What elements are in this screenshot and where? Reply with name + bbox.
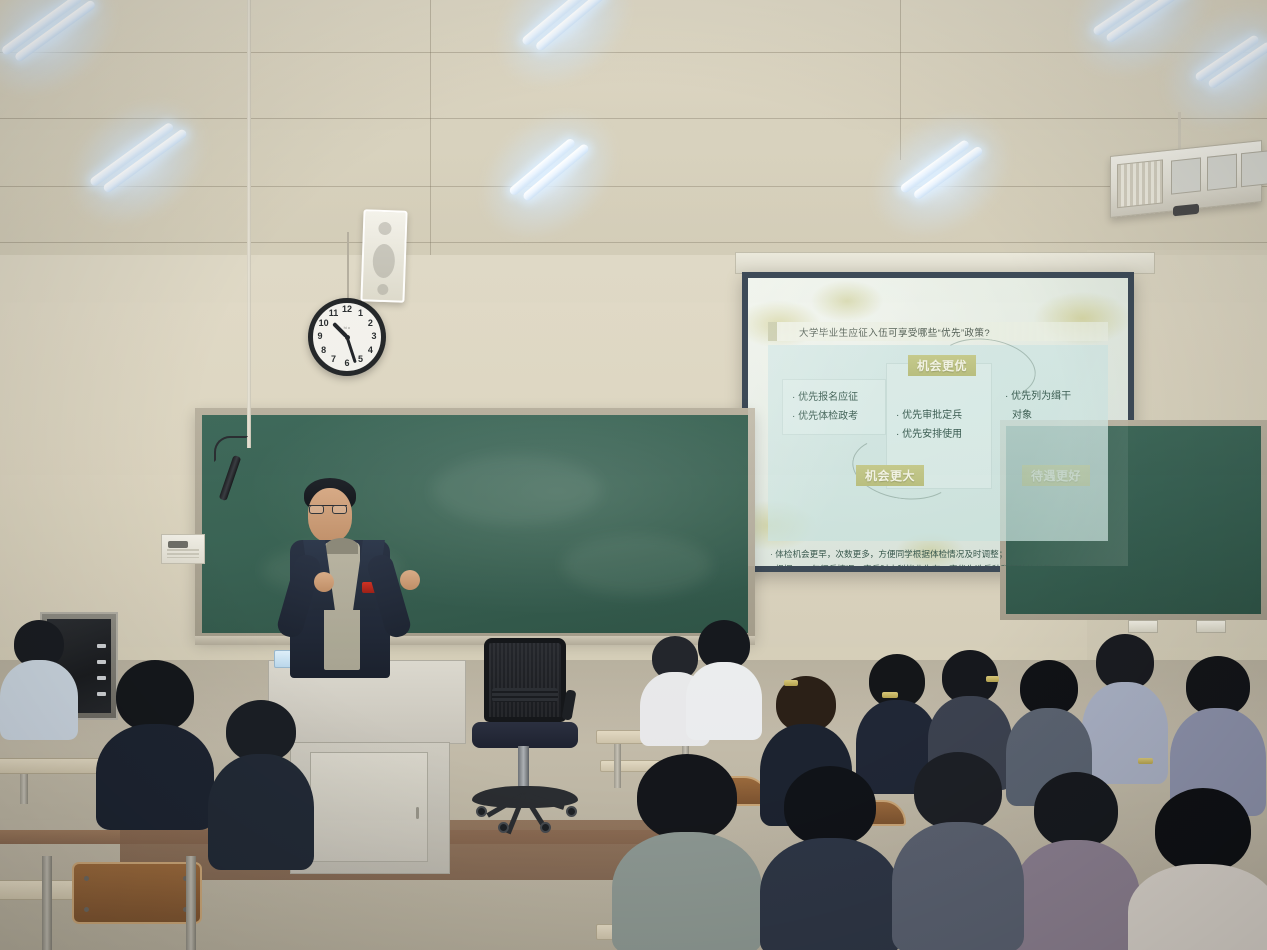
hair-clip (784, 680, 798, 686)
clock-numeral: 8 (317, 345, 331, 355)
clock-center-pin (345, 335, 350, 340)
lecturer-head (308, 488, 352, 542)
student-body (208, 754, 314, 870)
slide-title-bar: 大学毕业生应征入伍可享受哪些“优先”政策? (768, 322, 1108, 341)
student-head (784, 766, 876, 846)
student (1128, 788, 1267, 950)
clock-brand: hio (344, 325, 351, 330)
student (0, 620, 78, 740)
slide-title: 大学毕业生应征入伍可享受哪些“优先”政策? (799, 325, 990, 339)
projection-screen: 大学毕业生应征入伍可享受哪些“优先”政策? 优先报名应征 优先体检政考 优先审批… (742, 272, 1134, 572)
wall-clock: hio 121234567891011 (308, 298, 386, 376)
student-head (1034, 772, 1118, 848)
office-chair-seat (472, 722, 578, 748)
student (1012, 772, 1140, 950)
chalk-smudge (562, 535, 712, 595)
slide-bullet: 优先报名应征 (792, 388, 876, 407)
hair-clip (986, 676, 999, 682)
slide-bullet: 优先安排使用 (896, 425, 982, 444)
clock-numeral: 4 (363, 345, 377, 355)
wall-control-plate (161, 534, 205, 564)
screen-surface: 大学毕业生应征入伍可享受哪些“优先”政策? 优先报名应征 优先体检政考 优先审批… (748, 278, 1128, 566)
lecturer (300, 478, 450, 678)
office-chair-back (484, 638, 566, 722)
chair-bolt (84, 876, 89, 881)
slide-footer-bullets: 体检机会更早，次数更多，方便同学根据体检情况及时调整； 根据2021年征兵情况，… (770, 547, 1106, 566)
student-head (1186, 656, 1250, 716)
fluorescent-light (508, 137, 590, 213)
lecturer-glasses (309, 505, 347, 514)
student-head (116, 660, 194, 732)
clock-numeral: 12 (340, 304, 354, 314)
slide-tag-center: 机会更优 (908, 355, 976, 376)
slide-bullet-cont: 对象 (1005, 406, 1097, 425)
fluorescent-light (899, 139, 983, 211)
clock-numeral: 9 (313, 331, 327, 341)
student-head (637, 754, 737, 840)
student (760, 766, 900, 950)
podium-handle[interactable] (416, 807, 419, 819)
fluorescent-light (521, 0, 608, 63)
student (96, 660, 214, 830)
wall-plate-vent (167, 549, 199, 558)
projector-panel (1241, 150, 1267, 187)
office-chair-stem (518, 746, 529, 790)
slide-tag-right: 待遇更好 (1022, 465, 1090, 486)
office-chair-lumbar (492, 688, 558, 702)
student (612, 754, 762, 950)
screen-housing (735, 252, 1155, 274)
speaker-tweeter (378, 222, 391, 235)
slide-footer-bullet: 根据2021年征兵情况，定兵时本科毕业生有一定优先选兵种和部队的优势； (770, 562, 1106, 566)
lecturer-collar (326, 538, 358, 554)
slide-tag-left: 机会更大 (856, 465, 924, 486)
chair-caster (476, 806, 487, 817)
student-body (686, 662, 762, 740)
student (208, 700, 314, 870)
chalk-clip (1128, 620, 1158, 633)
blackboard (195, 408, 755, 640)
clock-numeral: 11 (327, 308, 341, 318)
fluorescent-light (0, 0, 95, 73)
slide-bullet: 优先审批定兵 (896, 406, 982, 425)
classroom-photo: 大学毕业生应征入伍可享受哪些“优先”政策? 优先报名应征 优先体检政考 优先审批… (0, 0, 1267, 950)
student-body (0, 660, 78, 740)
slide-body: 优先报名应征 优先体检政考 优先审批定兵 优先安排使用 优先列为缉干 (768, 345, 1108, 541)
wooden-chair-back (72, 862, 202, 924)
student-body (1128, 864, 1267, 950)
chair-bolt (84, 907, 89, 912)
speaker-port (377, 284, 388, 295)
student-head (914, 752, 1002, 830)
student-body (1012, 840, 1140, 950)
chair-caster (498, 822, 509, 833)
chair-post (186, 856, 196, 950)
slide-bullet: 优先列为缉干 (1005, 387, 1097, 406)
chair-caster (566, 806, 577, 817)
microphone-pole (247, 0, 251, 448)
speaker-woofer (372, 244, 395, 279)
student-body (892, 822, 1024, 950)
hair-clip (1138, 758, 1153, 764)
student-body (96, 724, 214, 830)
student-head (226, 700, 296, 762)
microphone-hook (214, 436, 248, 462)
fluorescent-light (1194, 34, 1267, 100)
slide-bullet: 优先体检政考 (792, 407, 876, 426)
pa-speaker (360, 209, 407, 302)
student-body (1082, 682, 1168, 784)
fluorescent-light (89, 121, 188, 204)
ceiling-seam (0, 242, 1267, 243)
desk-leg (20, 774, 28, 804)
wall-plate-knob[interactable] (168, 541, 188, 548)
podium-panel (310, 752, 428, 862)
clock-numeral: 7 (327, 354, 341, 364)
clock-numeral: 1 (354, 308, 368, 318)
student (686, 620, 762, 740)
slide-column-left: 优先报名应征 优先体检政考 (782, 379, 886, 435)
slide-footer-bullet: 体检机会更早，次数更多，方便同学根据体检情况及时调整； (770, 547, 1106, 562)
lecturer-hand-left (314, 572, 334, 592)
student (1082, 634, 1168, 784)
projector-panel (1207, 154, 1237, 191)
rack-button[interactable] (97, 644, 106, 648)
clock-numeral: 6 (340, 358, 354, 368)
chalk-smudge (432, 455, 602, 525)
student-body (760, 838, 900, 950)
chair-caster (540, 822, 551, 833)
clock-numeral: 10 (317, 318, 331, 328)
slide: 大学毕业生应征入伍可享受哪些“优先”政策? 优先报名应征 优先体检政考 优先审批… (748, 278, 1128, 566)
student (892, 752, 1024, 950)
chair-mesh (489, 643, 561, 717)
student-head (1155, 788, 1251, 872)
projector-vent (1117, 159, 1163, 208)
ceiling-seam (430, 0, 431, 260)
clock-numeral: 2 (363, 318, 377, 328)
hair-clip (882, 692, 898, 698)
lecturer-hand-right (400, 570, 420, 590)
slide-column-right: 优先列为缉干 对象 (996, 379, 1106, 433)
clock-hook (347, 232, 349, 300)
chalk-clip (1196, 620, 1226, 633)
projector-panel (1171, 157, 1201, 194)
student-body (612, 832, 762, 950)
chair-post (42, 856, 52, 950)
clock-numeral: 3 (367, 331, 381, 341)
